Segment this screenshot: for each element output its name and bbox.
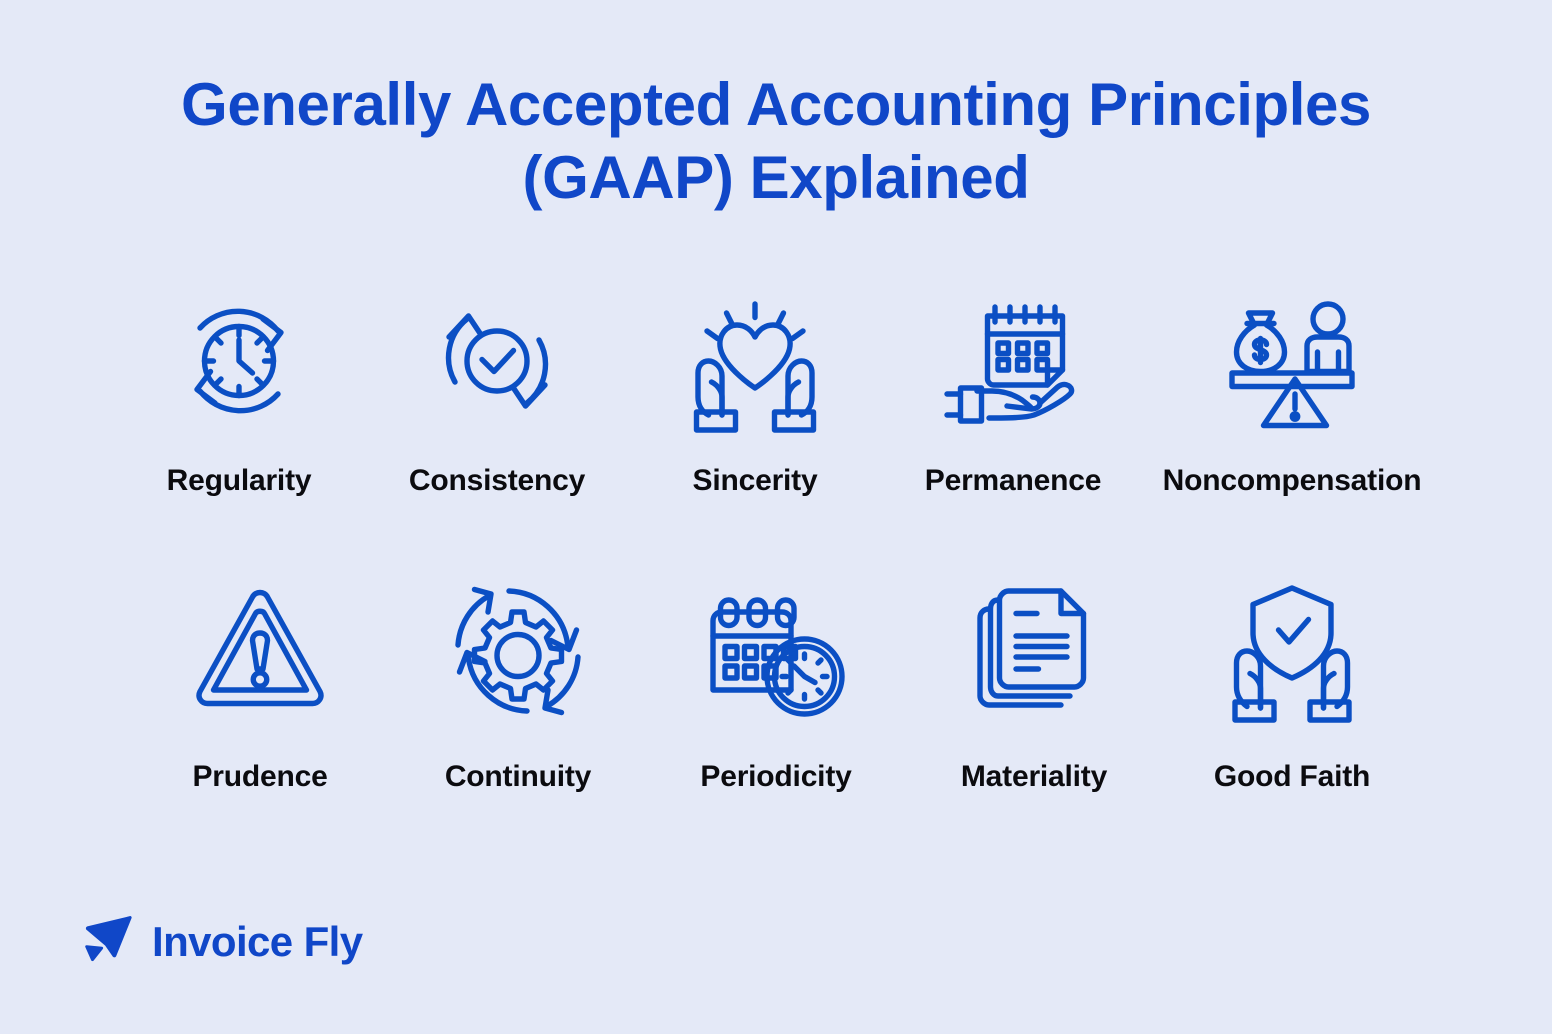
- principles-grid: Regularity Consistency: [0, 276, 1552, 794]
- calendar-clock-icon: [701, 566, 851, 736]
- principle-permanence: Permanence: [884, 276, 1142, 498]
- warning-triangle-icon: [185, 566, 335, 736]
- principle-label: Prudence: [192, 760, 327, 794]
- principle-label: Good Faith: [1214, 760, 1370, 794]
- balance-money-person-warning-icon: [1217, 276, 1367, 446]
- principles-row-2: Prudence: [0, 566, 1552, 794]
- principle-label: Materiality: [961, 760, 1107, 794]
- stacked-documents-icon: [959, 566, 1109, 736]
- hand-holding-calendar-icon: [938, 276, 1088, 446]
- principle-noncompensation: Noncompensation: [1142, 276, 1442, 498]
- paper-plane-logo-icon: [80, 911, 136, 972]
- logo-text: Invoice Fly: [152, 918, 362, 966]
- principles-row-1: Regularity Consistency: [0, 276, 1552, 498]
- hands-holding-shield-check-icon: [1217, 566, 1367, 736]
- clock-refresh-icon: [164, 276, 314, 446]
- principle-label: Consistency: [409, 464, 585, 498]
- principle-continuity: Continuity: [389, 566, 647, 794]
- principle-good-faith: Good Faith: [1163, 566, 1421, 794]
- principle-materiality: Materiality: [905, 566, 1163, 794]
- principle-sincerity: Sincerity: [626, 276, 884, 498]
- circular-arrows-check-icon: [422, 276, 572, 446]
- principle-prudence: Prudence: [131, 566, 389, 794]
- page-title-line-2: (GAAP) Explained: [523, 144, 1030, 211]
- principle-label: Permanence: [925, 464, 1101, 498]
- page-title-line-1: Generally Accepted Accounting Principles: [181, 71, 1371, 138]
- gear-circular-arrows-icon: [443, 566, 593, 736]
- principle-label: Continuity: [445, 760, 591, 794]
- principle-consistency: Consistency: [368, 276, 626, 498]
- page-title: Generally Accepted Accounting Principles…: [126, 68, 1426, 214]
- principle-label: Noncompensation: [1163, 464, 1422, 498]
- header: Generally Accepted Accounting Principles…: [0, 0, 1552, 214]
- principle-periodicity: Periodicity: [647, 566, 905, 794]
- hands-holding-heart-icon: [680, 276, 830, 446]
- principle-regularity: Regularity: [110, 276, 368, 498]
- principle-label: Sincerity: [693, 464, 818, 498]
- brand-footer: Invoice Fly: [80, 911, 362, 972]
- principle-label: Periodicity: [700, 760, 851, 794]
- infographic-page: Generally Accepted Accounting Principles…: [0, 0, 1552, 1034]
- principle-label: Regularity: [167, 464, 312, 498]
